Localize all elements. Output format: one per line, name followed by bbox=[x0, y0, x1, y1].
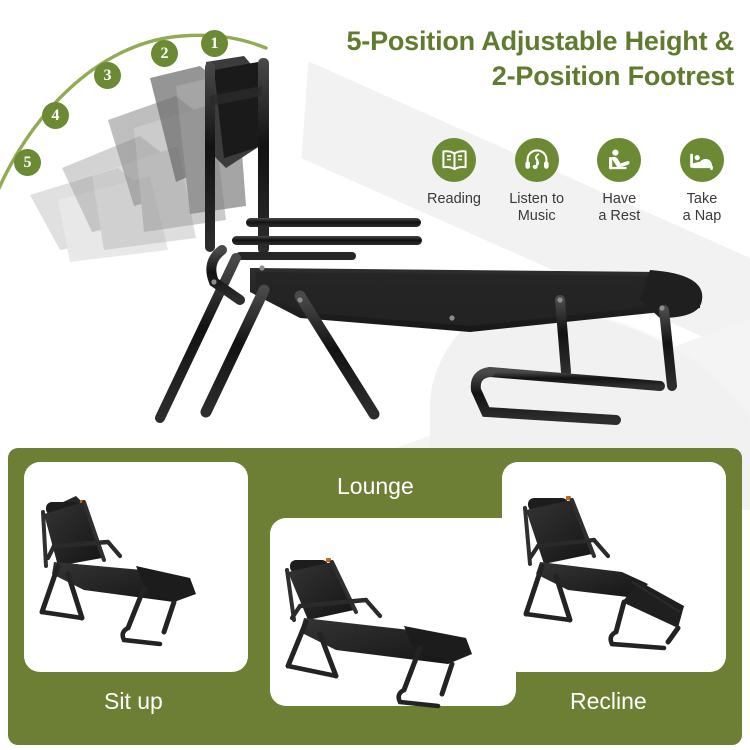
title-line-1: 5-Position Adjustable Height & bbox=[346, 26, 734, 56]
feature-have-a-rest: Have a Rest bbox=[583, 138, 655, 225]
support-leg-a bbox=[560, 300, 566, 372]
feature-listen-to-music: Listen to Music bbox=[501, 138, 573, 225]
page-title: 5-Position Adjustable Height & 2-Positio… bbox=[264, 24, 734, 93]
position-marker-2: 2 bbox=[151, 40, 178, 67]
position-marker-3: 3 bbox=[94, 62, 121, 89]
feature-label-line1: Listen to bbox=[509, 191, 564, 207]
mode-card-sit-up bbox=[24, 462, 248, 672]
feature-label-listen-to-music: Listen to Music bbox=[509, 191, 564, 225]
feature-label-line1: Take bbox=[687, 191, 718, 207]
bed-icon bbox=[680, 138, 724, 182]
chair-backrest bbox=[43, 496, 104, 566]
feature-label-line1: Have bbox=[602, 191, 636, 207]
rear-leg bbox=[288, 622, 306, 666]
feature-label-line1: Reading bbox=[427, 191, 481, 207]
mode-card-lounge bbox=[270, 518, 516, 706]
infographic-canvas: 1 2 3 4 5 5-Position Adjustable Height &… bbox=[0, 0, 750, 750]
mode-card-recline bbox=[502, 462, 726, 672]
mode-label-sit-up: Sit up bbox=[104, 690, 163, 713]
feature-icon-row: Reading Listen to Music bbox=[418, 138, 738, 225]
person-reclining-icon bbox=[597, 138, 641, 182]
armrest-rail-third bbox=[236, 252, 356, 260]
support-leg bbox=[616, 602, 624, 632]
headphones-music-icon bbox=[515, 138, 559, 182]
mode-label-recline: Recline bbox=[570, 690, 647, 713]
feature-take-a-nap: Take a Nap bbox=[666, 138, 738, 225]
armrest-rail-lower bbox=[232, 236, 422, 245]
position-marker-1: 1 bbox=[201, 30, 228, 57]
support-cross bbox=[490, 372, 660, 386]
feature-label-take-a-nap: Take a Nap bbox=[683, 191, 722, 225]
feature-label-line2: a Rest bbox=[598, 208, 640, 224]
rear-leg bbox=[526, 566, 542, 614]
support-leg-b bbox=[664, 310, 672, 386]
position-marker-4: 4 bbox=[42, 102, 69, 129]
feature-label-line2: Music bbox=[518, 208, 556, 224]
feature-reading: Reading bbox=[418, 138, 490, 208]
chair-backrest bbox=[525, 496, 594, 564]
position-markers: 1 2 3 4 5 bbox=[0, 0, 300, 220]
rear-leg bbox=[160, 258, 236, 418]
feature-label-reading: Reading bbox=[427, 191, 481, 208]
feature-label-have-a-rest: Have a Rest bbox=[598, 191, 640, 225]
feature-label-line2: a Nap bbox=[683, 208, 722, 224]
position-marker-5: 5 bbox=[14, 149, 41, 176]
mode-label-lounge: Lounge bbox=[337, 475, 414, 498]
open-book-icon bbox=[432, 138, 476, 182]
title-line-2: 2-Position Footrest bbox=[264, 59, 734, 94]
rear-leg bbox=[42, 566, 58, 612]
